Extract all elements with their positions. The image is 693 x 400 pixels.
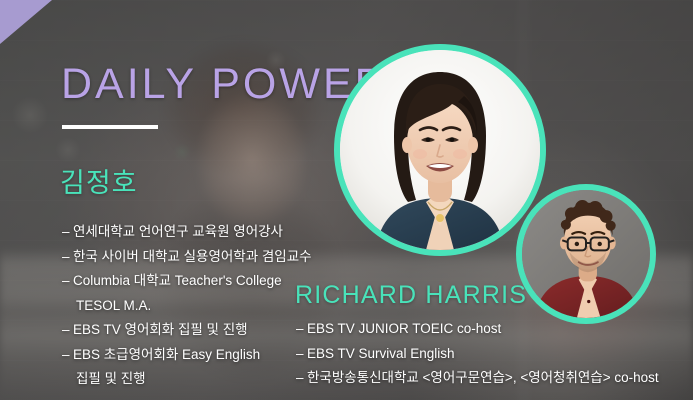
- list-item: –한국방송통신대학교 <영어구문연습>, <영어청취연습> co-host: [296, 366, 659, 391]
- list-item: –한국 사이버 대학교 실용영어학과 겸임교수: [62, 245, 312, 270]
- instructor-right-credentials: –EBS TV JUNIOR TOEIC co-host –EBS TV Sur…: [296, 317, 659, 391]
- instructor-right-portrait: [516, 184, 656, 324]
- list-item-text: EBS TV 영어회화 집필 및 진행: [73, 322, 248, 337]
- list-item-text: EBS TV JUNIOR TOEIC co-host: [307, 321, 501, 336]
- bullet-dash-icon: –: [296, 366, 307, 391]
- title-divider: [62, 125, 158, 129]
- bullet-dash-icon: –: [296, 342, 307, 367]
- bullet-dash-icon: –: [296, 317, 307, 342]
- bullet-dash-icon: –: [62, 343, 73, 368]
- bullet-dash-icon: –: [62, 220, 73, 245]
- portrait-illustration-woman: [340, 50, 540, 250]
- corner-triangle-accent: [0, 0, 52, 44]
- instructor-left-credentials: –연세대학교 언어연구 교육원 영어강사 –한국 사이버 대학교 실용영어학과 …: [62, 220, 312, 392]
- bullet-dash-icon: –: [62, 269, 73, 294]
- list-item: –EBS TV 영어회화 집필 및 진행: [62, 318, 312, 343]
- list-item-text: 한국방송통신대학교 <영어구문연습>, <영어청취연습> co-host: [307, 370, 659, 385]
- list-item-text: EBS 초급영어회화 Easy English: [73, 347, 260, 362]
- list-item-continuation: TESOL M.A.: [62, 294, 312, 319]
- instructor-left-portrait: [334, 44, 546, 256]
- list-item: –EBS 초급영어회화 Easy English 집필 및 진행: [62, 343, 312, 392]
- bullet-dash-icon: –: [62, 318, 73, 343]
- list-item-text: Columbia 대학교 Teacher's College: [73, 273, 282, 288]
- portrait-illustration-man: [522, 190, 650, 318]
- list-item: –연세대학교 언어연구 교육원 영어강사: [62, 220, 312, 245]
- list-item: –Columbia 대학교 Teacher's College TESOL M.…: [62, 269, 312, 318]
- list-item: –EBS TV Survival English: [296, 342, 659, 367]
- list-item-text: 한국 사이버 대학교 실용영어학과 겸임교수: [73, 249, 312, 264]
- instructor-left-name: 김정호: [60, 161, 138, 200]
- list-item-continuation: 집필 및 진행: [62, 367, 312, 392]
- instructor-right-name: RICHARD HARRIS: [295, 281, 527, 310]
- daily-power-poster: DAILY POWER 김정호 –연세대학교 언어연구 교육원 영어강사 –한국…: [0, 0, 693, 400]
- list-item-text: 연세대학교 언어연구 교육원 영어강사: [73, 224, 283, 239]
- bullet-dash-icon: –: [62, 245, 73, 270]
- list-item-text: EBS TV Survival English: [307, 346, 455, 361]
- page-title: DAILY POWER: [61, 60, 389, 109]
